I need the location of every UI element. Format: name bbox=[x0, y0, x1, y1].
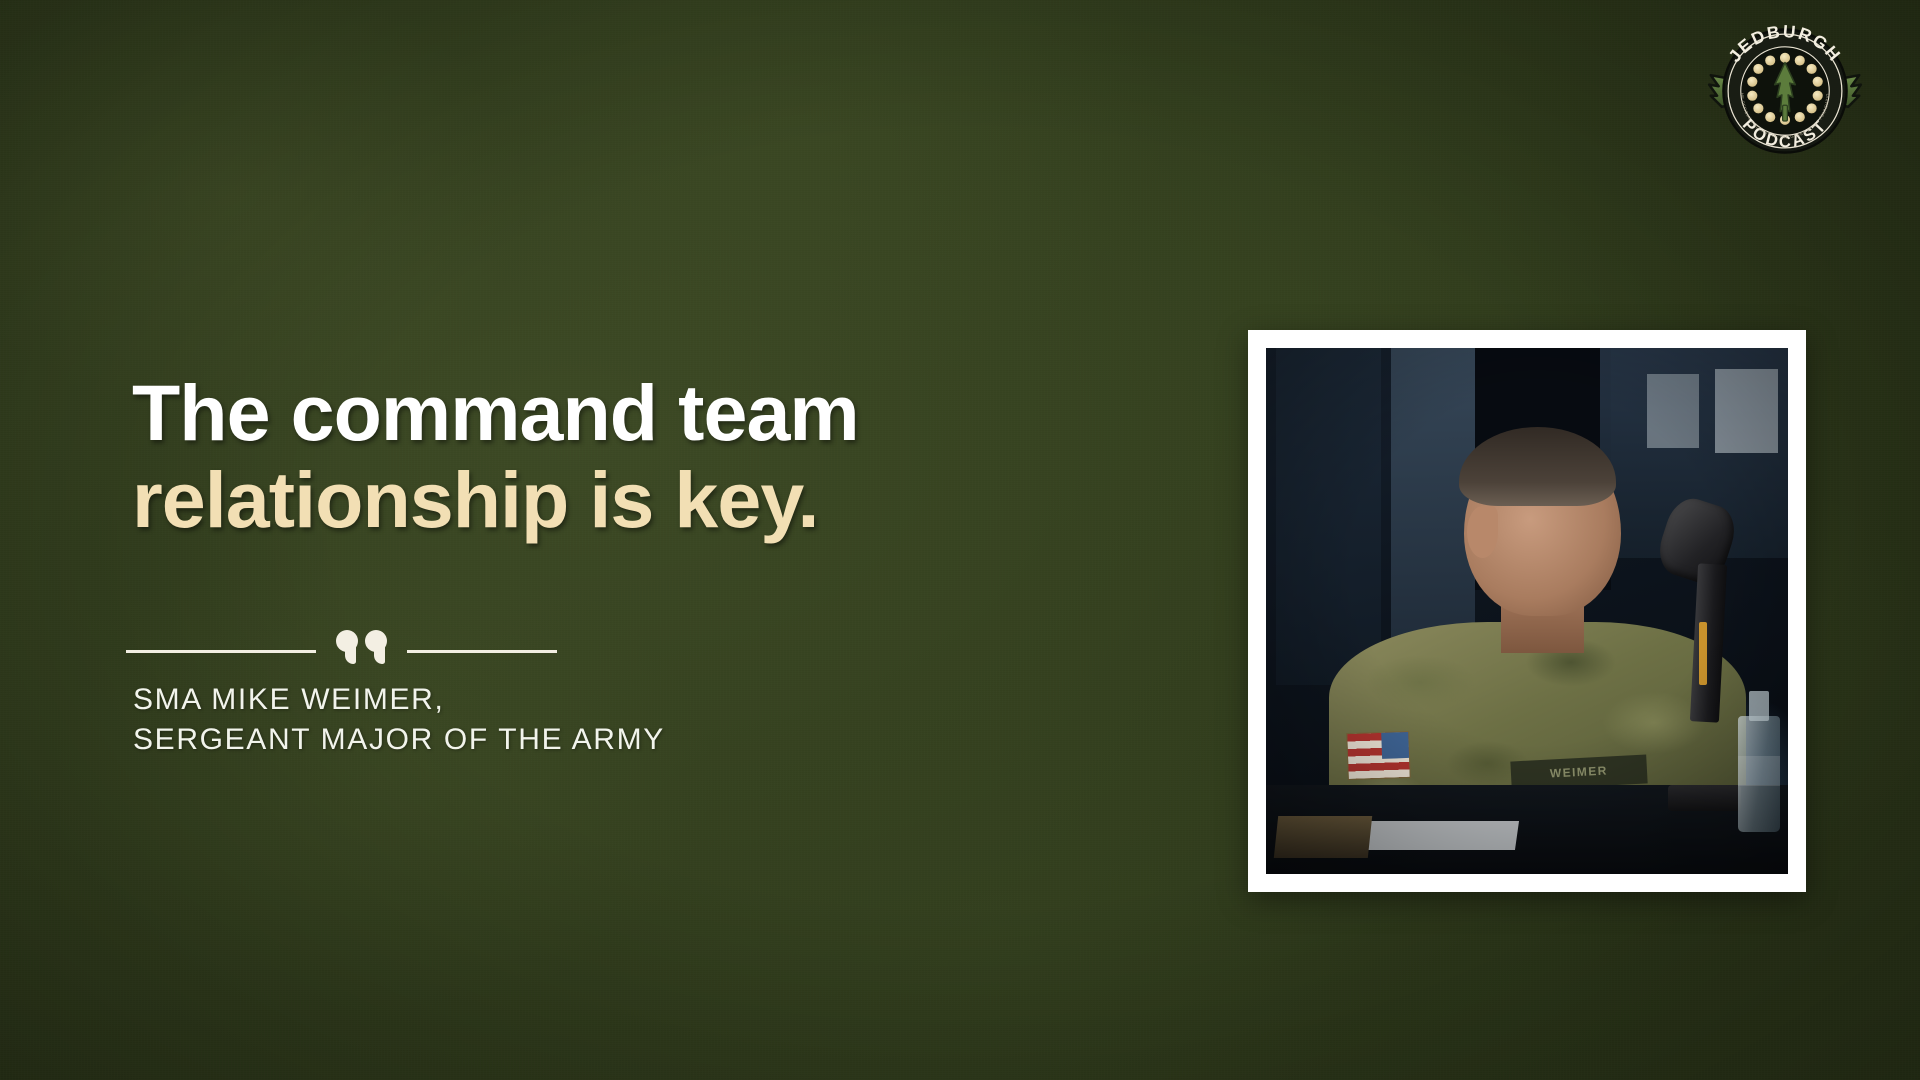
attribution-title: SERGEANT MAJOR OF THE ARMY bbox=[133, 720, 665, 760]
quote-glyph-first bbox=[336, 630, 358, 664]
microphone-base bbox=[1668, 785, 1741, 811]
attribution: SMA MIKE WEIMER, SERGEANT MAJOR OF THE A… bbox=[133, 680, 665, 759]
divider-rule-left bbox=[126, 650, 316, 653]
jedburgh-podcast-logo[interactable]: JEDBURGH PODCAST THE OFFICIAL PODCAST OF… bbox=[1706, 12, 1864, 170]
photo-window-second bbox=[1647, 374, 1699, 448]
quote-mark-icon bbox=[336, 630, 387, 664]
quote-glyph-second bbox=[365, 630, 387, 664]
quote-card: The command team relationship is key. SM… bbox=[0, 0, 1920, 1080]
quote-block: The command team relationship is key. bbox=[132, 372, 1032, 541]
quote-line-1: The command team bbox=[132, 372, 1032, 453]
divider-rule-right bbox=[407, 650, 557, 653]
water-bottle bbox=[1738, 716, 1780, 832]
guest-photo: WEIMER bbox=[1266, 348, 1788, 874]
photo-wall-panel bbox=[1391, 348, 1475, 653]
uniform-nametape-label: WEIMER bbox=[1550, 764, 1609, 781]
quote-line-2: relationship is key. bbox=[132, 459, 1032, 540]
photo-window-right bbox=[1715, 369, 1778, 453]
us-flag-patch-icon bbox=[1346, 731, 1410, 780]
photo-wall-left bbox=[1276, 348, 1380, 685]
photo-papers bbox=[1358, 821, 1519, 850]
photo-book bbox=[1274, 816, 1372, 858]
photo-card: WEIMER bbox=[1248, 330, 1806, 892]
microphone-accent bbox=[1699, 622, 1707, 685]
divider bbox=[126, 628, 646, 674]
attribution-name: SMA MIKE WEIMER, bbox=[133, 680, 665, 720]
